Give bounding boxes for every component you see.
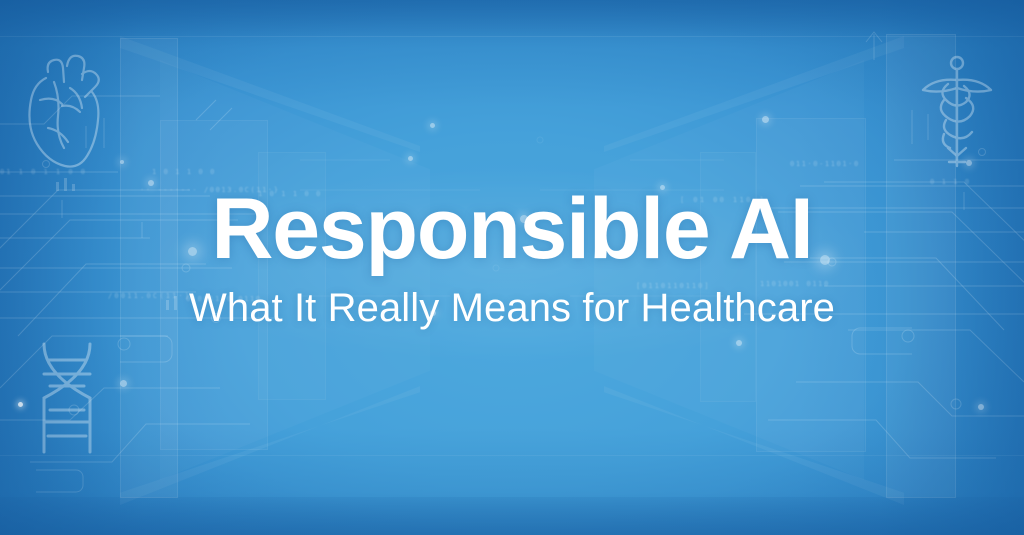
glow-dot	[430, 123, 435, 128]
anatomical-heart-icon	[18, 48, 123, 173]
glow-dot	[762, 116, 769, 123]
glow-dot	[408, 156, 413, 161]
page-subtitle: What It Really Means for Healthcare	[0, 286, 1024, 330]
glow-dot	[978, 404, 984, 410]
glow-dot	[120, 380, 127, 387]
responsible-ai-banner: ·· ---·--- /0013.0C(11·} 1 0 1 1 0 0 /00…	[0, 0, 1024, 535]
caduceus-medical-icon	[908, 50, 1006, 172]
glow-dot	[18, 402, 23, 407]
dna-helix-icon	[28, 338, 106, 458]
glow-dot	[966, 160, 972, 166]
page-title: Responsible AI	[0, 186, 1024, 272]
headline-block: Responsible AI What It Really Means for …	[0, 186, 1024, 330]
glow-dot	[736, 340, 742, 346]
glow-dot	[120, 160, 124, 164]
